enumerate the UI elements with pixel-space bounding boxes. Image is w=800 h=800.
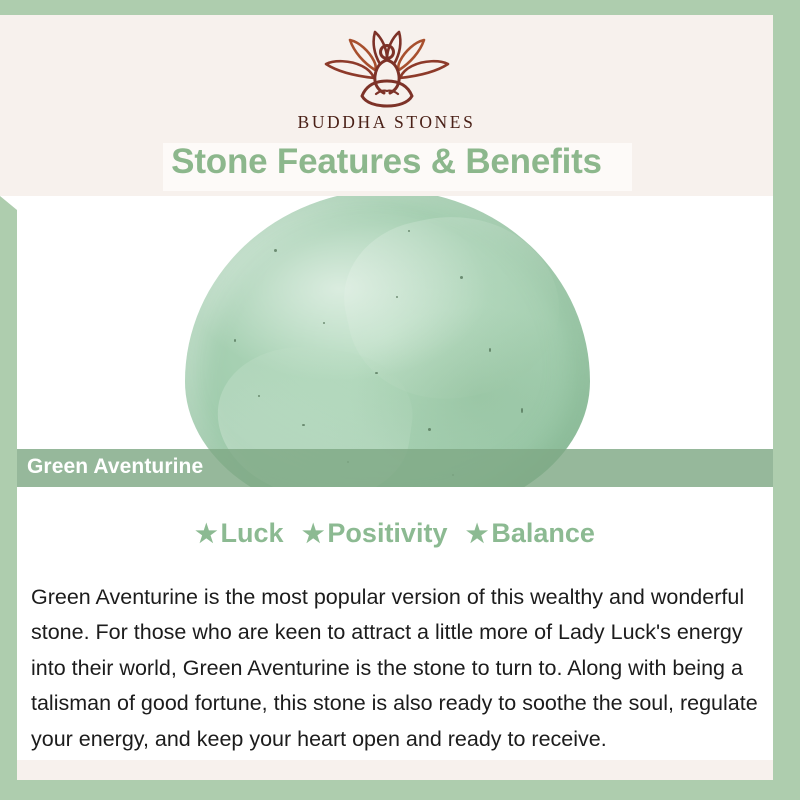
benefit-item-positivity: ★Positivity: [302, 518, 447, 549]
benefits-list: ★Luck ★Positivity ★Balance: [17, 518, 773, 549]
brand-logo: BUDDHA STONES: [0, 18, 773, 133]
benefit-item-balance: ★Balance: [466, 518, 595, 549]
product-photo: [17, 196, 773, 487]
green-aventurine-stone-image: [185, 196, 590, 487]
brand-wordmark: BUDDHA STONES: [0, 112, 773, 133]
page-title: Stone Features & Benefits: [0, 142, 773, 182]
star-icon: ★: [302, 520, 324, 548]
star-icon: ★: [195, 520, 217, 548]
lotus-meditation-icon: [312, 18, 462, 110]
stone-description: Green Aventurine is the most popular ver…: [31, 580, 773, 758]
frame-left-border: [0, 196, 17, 800]
frame-right-border: [773, 0, 800, 800]
product-label: Green Aventurine: [27, 455, 203, 479]
frame-top-border: [0, 0, 800, 15]
benefit-item-luck: ★Luck: [195, 518, 283, 549]
benefit-label: Balance: [491, 518, 595, 548]
stone-features-infographic: BUDDHA STONES Stone Features & Benefits …: [0, 0, 800, 800]
benefit-label: Positivity: [327, 518, 447, 548]
footer-strip: [17, 760, 773, 780]
benefit-label: Luck: [221, 518, 284, 548]
frame-bottom-border: [0, 780, 800, 800]
star-icon: ★: [466, 520, 488, 548]
